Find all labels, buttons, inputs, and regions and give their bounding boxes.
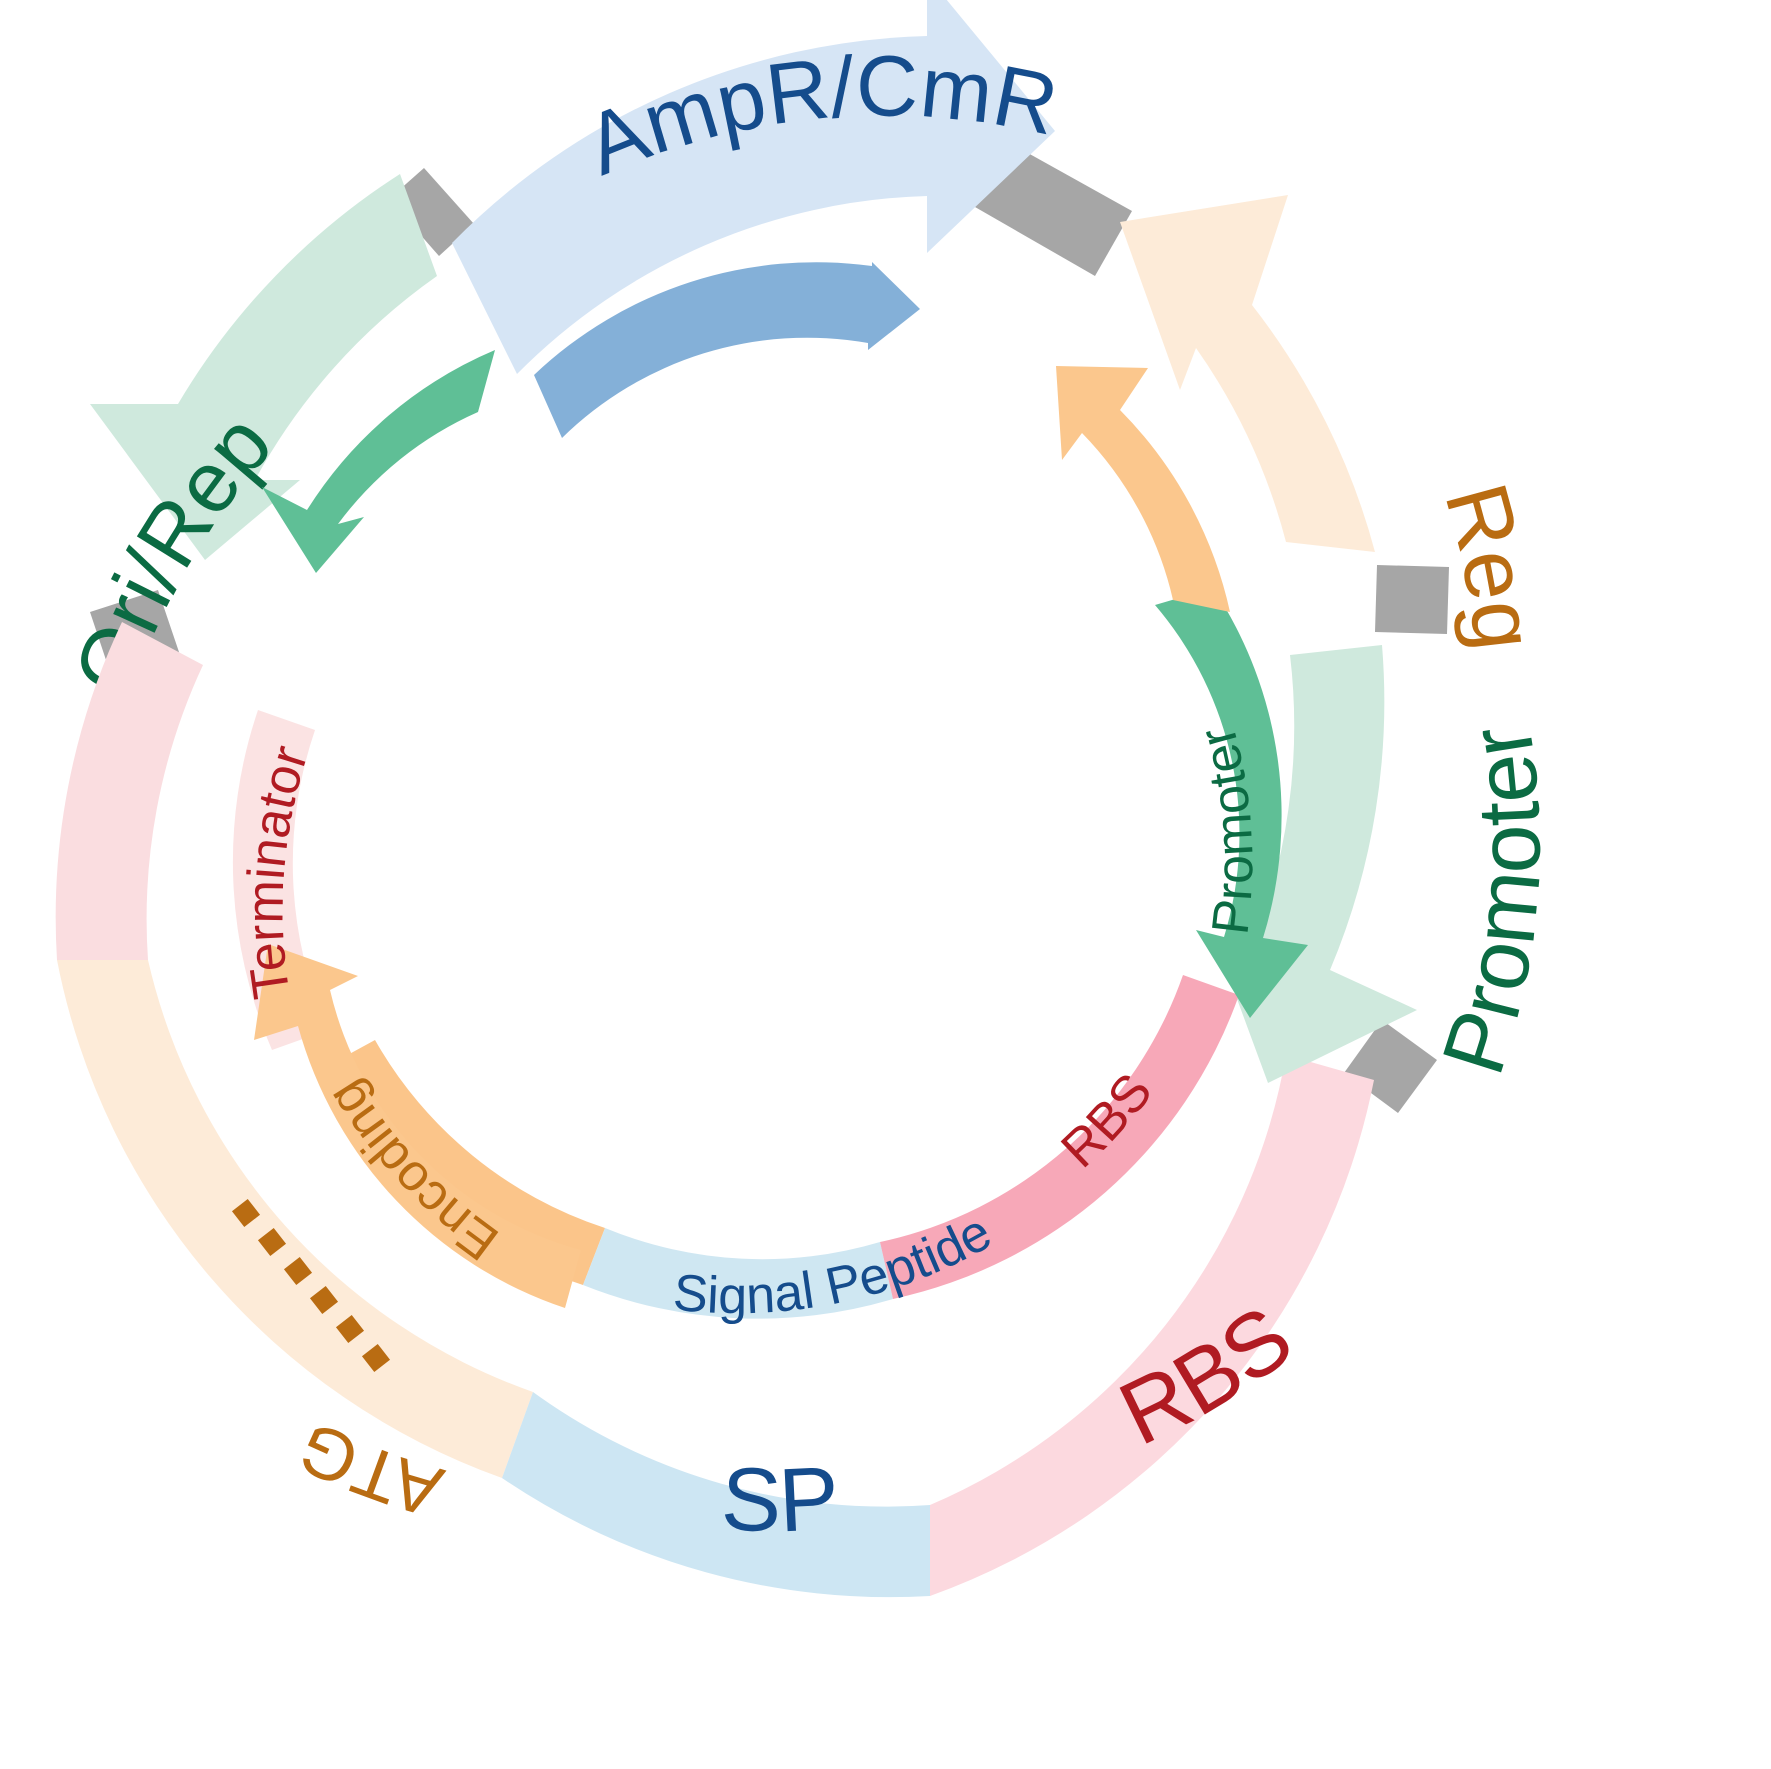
- connector-reg-promoter: [1375, 565, 1449, 634]
- plasmid-diagram-svg: AmpR/CmR Ori/Rep Ter ATG: [0, 0, 1771, 1769]
- plasmid-map-figure: AmpR/CmR Ori/Rep Ter ATG: [0, 0, 1771, 1769]
